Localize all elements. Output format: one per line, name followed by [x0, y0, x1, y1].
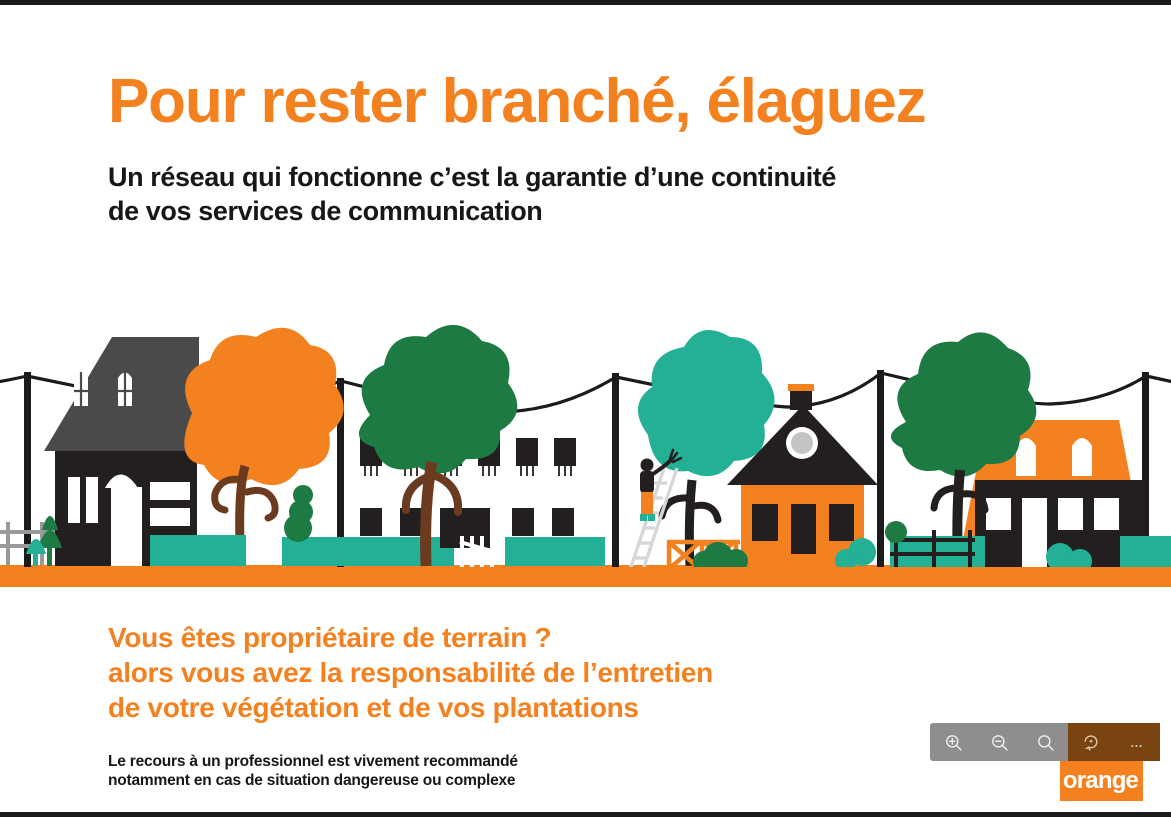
rotate-button[interactable] — [1068, 723, 1114, 761]
hedge-3 — [505, 537, 605, 566]
viewer-bottom-bar — [0, 812, 1171, 817]
ownership-claim: Vous êtes propriétaire de terrain ? alor… — [108, 620, 908, 725]
more-options-icon: … — [1130, 736, 1144, 749]
disclaimer-line-1: Le recours à un professionnel est viveme… — [108, 752, 728, 771]
zoom-reset-button[interactable] — [1022, 723, 1068, 761]
subtitle-line-1: Un réseau qui fonctionne c’est la garant… — [108, 160, 1048, 194]
zoom-in-icon — [944, 733, 963, 752]
shrub-green-3 — [885, 521, 907, 543]
hedge-5 — [1120, 536, 1171, 567]
subtitle-line-2: de vos services de communication — [108, 194, 1048, 228]
ground-strip-front — [0, 567, 1171, 587]
orange-tree — [184, 328, 343, 566]
dark-house-left — [44, 337, 199, 566]
hedge-1 — [150, 535, 246, 566]
rotate-icon — [1081, 732, 1101, 752]
poster-page: Pour rester branché, élaguez Un réseau q… — [0, 0, 1171, 817]
subtitle: Un réseau qui fonctionne c’est la garant… — [108, 160, 1048, 228]
page-title: Pour rester branché, élaguez — [108, 67, 925, 137]
claim-line-1: Vous êtes propriétaire de terrain ? — [108, 620, 908, 655]
claim-line-3: de votre végétation et de vos plantation… — [108, 690, 908, 725]
green-tree-centre — [359, 325, 517, 566]
disclaimer: Le recours à un professionnel est viveme… — [108, 752, 728, 790]
more-options-button[interactable]: … — [1114, 723, 1160, 761]
viewer-toolbar: … — [930, 723, 1160, 761]
shrub-green-1 — [284, 485, 313, 542]
disclaimer-line-2: notamment en cas de situation dangereuse… — [108, 771, 728, 790]
zoom-in-button[interactable] — [930, 723, 976, 761]
zoom-out-icon — [990, 733, 1009, 752]
trademark-symbol: ™ — [1143, 765, 1152, 774]
zoom-out-button[interactable] — [976, 723, 1022, 761]
viewer-top-bar — [0, 0, 1171, 5]
orange-wordmark: orange™ — [1063, 769, 1140, 793]
zoom-reset-icon — [1036, 733, 1055, 752]
orange-logo: orange™ — [1060, 761, 1143, 801]
claim-line-2: alors vous avez la responsabilité de l’e… — [108, 655, 908, 690]
street-illustration — [0, 280, 1171, 590]
